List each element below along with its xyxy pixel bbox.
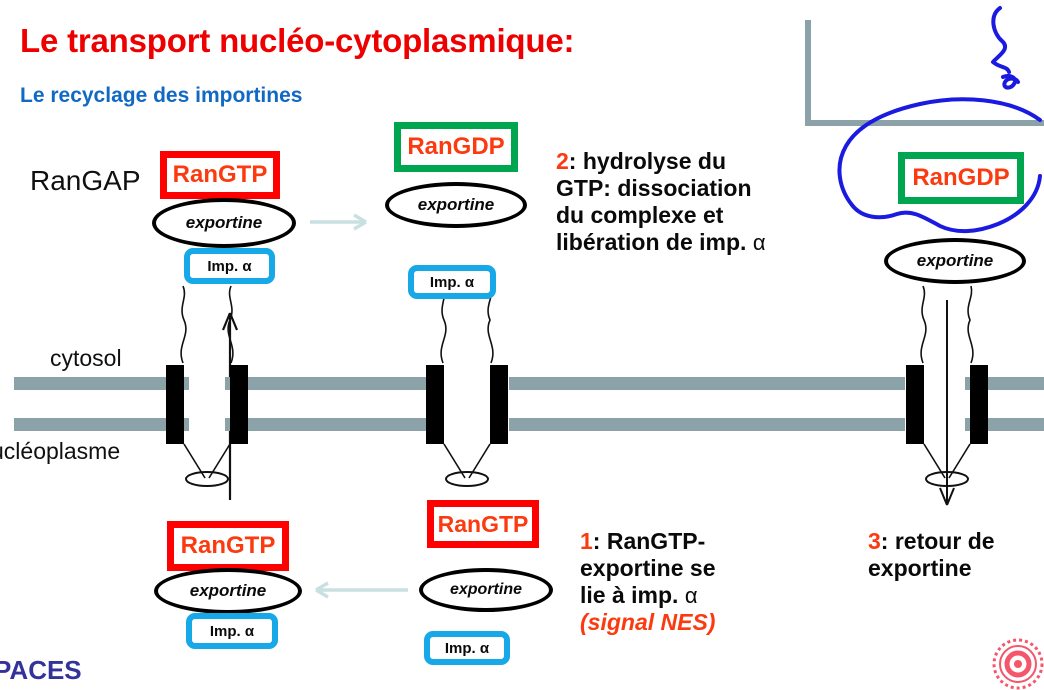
importin-alpha-box: Imp. α	[408, 265, 496, 299]
page-subtitle: Le recyclage des importines	[20, 84, 302, 108]
rangtp-box: RanGTP	[160, 151, 280, 199]
step-2-text: 2: hydrolyse du GTP: dissociation du com…	[556, 148, 836, 256]
step-2-line3: du complexe et	[556, 202, 723, 228]
step-3-number: 3	[868, 528, 881, 554]
step-1-line1: RanGTP-	[607, 528, 705, 554]
step-1-line2: exportine se	[580, 555, 716, 581]
importin-alpha-box: Imp. α	[186, 613, 278, 649]
rangdp-box: RanGDP	[898, 152, 1024, 204]
nuclear-envelope-segment-1	[14, 377, 189, 431]
step-2-line2: GTP: dissociation	[556, 175, 752, 201]
step-3-sep: :	[881, 528, 895, 554]
step-3-line1: retour de	[895, 528, 995, 554]
pore-filaments-middle	[441, 286, 493, 478]
pore-bar-left	[166, 365, 184, 444]
label-rangap: RanGAP	[30, 165, 141, 197]
step-1-signal-nes: (signal NES)	[580, 609, 715, 635]
frame-corner-lines	[808, 20, 1044, 123]
exportine-ellipse: exportine	[152, 198, 296, 248]
step-2-line1: hydrolyse du	[583, 148, 726, 174]
pore-bar-right	[970, 365, 988, 444]
nuclear-envelope-segment-3	[509, 377, 905, 431]
pale-arrow-right-top	[310, 215, 366, 229]
pore-basket-ring-middle	[446, 472, 488, 486]
pore-basket-ring-left	[186, 472, 228, 486]
label-nucleoplasme: ucléoplasme	[0, 438, 120, 465]
rangdp-box: RanGDP	[394, 122, 518, 172]
step-1-line3: lie à imp.	[580, 582, 685, 608]
pore-bar-right	[490, 365, 508, 444]
step-2-number: 2	[556, 148, 569, 174]
step-1-text: 1: RanGTP- exportine se lie à imp. α (si…	[580, 528, 780, 636]
step-1-alpha: α	[685, 583, 698, 608]
importin-alpha-box: Imp. α	[424, 631, 510, 665]
nuclear-envelope-segment-2	[225, 377, 443, 431]
step-2-line4: libération de imp.	[556, 229, 753, 255]
step-2-sep: :	[569, 148, 583, 174]
arrow-down-right-pore	[940, 300, 954, 505]
exportine-ellipse: exportine	[884, 238, 1026, 284]
step-3-line2: exportine	[868, 555, 972, 581]
step-3-text: 3: retour de exportine	[868, 528, 1044, 582]
pore-bar-right	[230, 365, 248, 444]
step-2-alpha: α	[753, 230, 766, 255]
footer-brand-paces: PACES	[0, 655, 82, 686]
exportine-ellipse: exportine	[419, 568, 553, 612]
step-1-number: 1	[580, 528, 593, 554]
pore-bar-left	[426, 365, 444, 444]
pale-arrow-left-bottom	[316, 583, 408, 597]
label-cytosol: cytosol	[50, 345, 122, 372]
exportine-ellipse: exportine	[154, 568, 302, 614]
importin-alpha-box: Imp. α	[184, 248, 275, 284]
pore-bar-left	[906, 365, 924, 444]
rangtp-box: RanGTP	[427, 500, 539, 548]
page-title: Le transport nucléo-cytoplasmique:	[20, 22, 574, 60]
exportine-ellipse: exportine	[385, 182, 527, 228]
seal-logo-icon	[992, 638, 1044, 690]
slide-canvas: Le transport nucléo-cytoplasmique: Le re…	[0, 0, 1044, 680]
step-1-sep: :	[593, 528, 607, 554]
pore-basket-ring-right	[926, 472, 968, 486]
rangtp-box: RanGTP	[167, 521, 289, 571]
